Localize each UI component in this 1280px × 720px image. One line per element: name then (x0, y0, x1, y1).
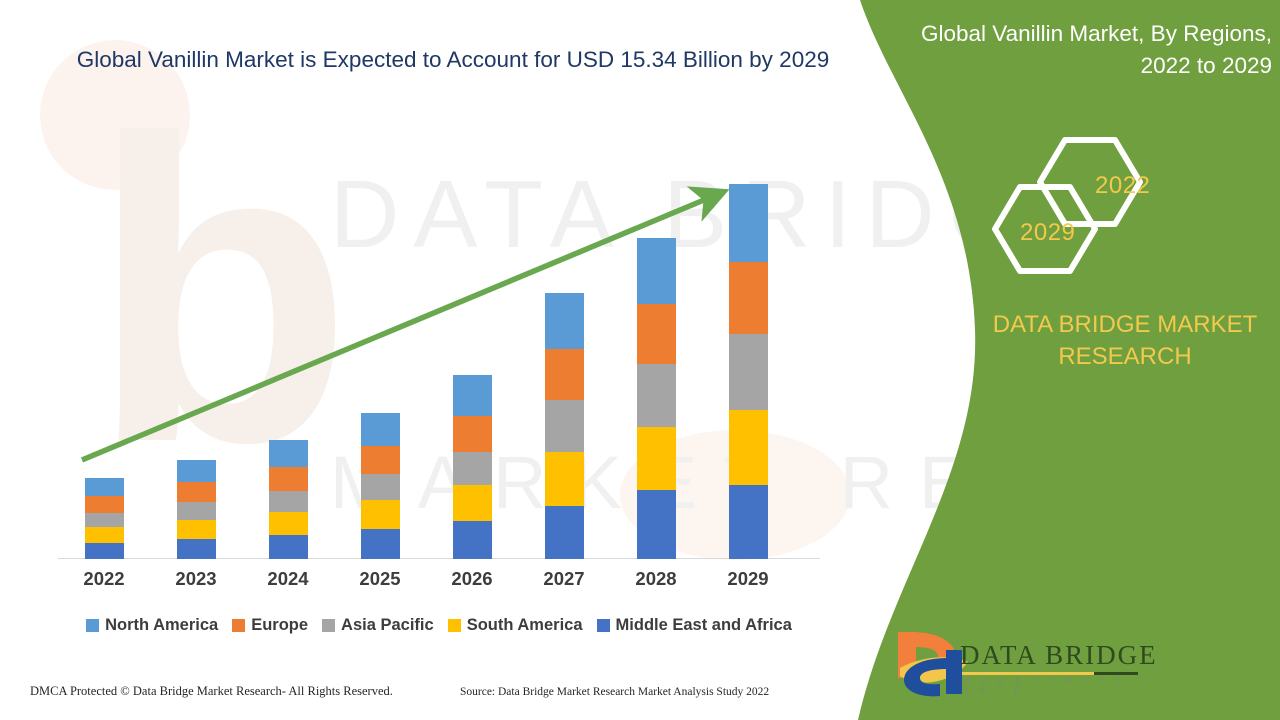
legend-item-north-america[interactable]: North America (86, 616, 218, 635)
hexagon-start-year: 2022 (1095, 172, 1150, 200)
legend-label: Europe (251, 616, 308, 635)
legend-swatch-icon (448, 619, 461, 632)
legend-item-asia-pacific[interactable]: Asia Pacific (322, 616, 434, 635)
legend-swatch-icon (86, 619, 99, 632)
panel-brand-name: DATA BRIDGE MARKET RESEARCH (965, 309, 1280, 373)
legend-swatch-icon (322, 619, 335, 632)
legend-item-south-america[interactable]: South America (448, 616, 583, 635)
legend-swatch-icon (232, 619, 245, 632)
legend-item-middle-east-and-africa[interactable]: Middle East and Africa (597, 616, 792, 635)
infographic-canvas: b DATA BRIDGE MARKET RESEARCH Global Van… (0, 0, 1280, 720)
growth-arrow-icon (0, 0, 880, 720)
logo-wordmark: DATA BRIDGE (960, 640, 1158, 671)
legend-swatch-icon (597, 619, 610, 632)
chart-legend: North AmericaEuropeAsia PacificSouth Ame… (58, 616, 820, 635)
footer-copyright: DMCA Protected © Data Bridge Market Rese… (30, 684, 393, 699)
panel-title: Global Vanillin Market, By Regions, 2022… (880, 18, 1272, 82)
legend-item-europe[interactable]: Europe (232, 616, 308, 635)
footer-source: Source: Data Bridge Market Research Mark… (460, 686, 769, 698)
logo-tagline: M A R K E T R E S E A R C H (962, 675, 1140, 695)
hexagon-outline-icon (975, 135, 1185, 280)
legend-label: South America (467, 616, 583, 635)
legend-label: Asia Pacific (341, 616, 434, 635)
legend-label: Middle East and Africa (616, 616, 792, 635)
hexagon-end-year: 2029 (1020, 219, 1075, 247)
legend-label: North America (105, 616, 218, 635)
stacked-bar-chart: 20222023202420252026202720282029 (0, 0, 880, 720)
